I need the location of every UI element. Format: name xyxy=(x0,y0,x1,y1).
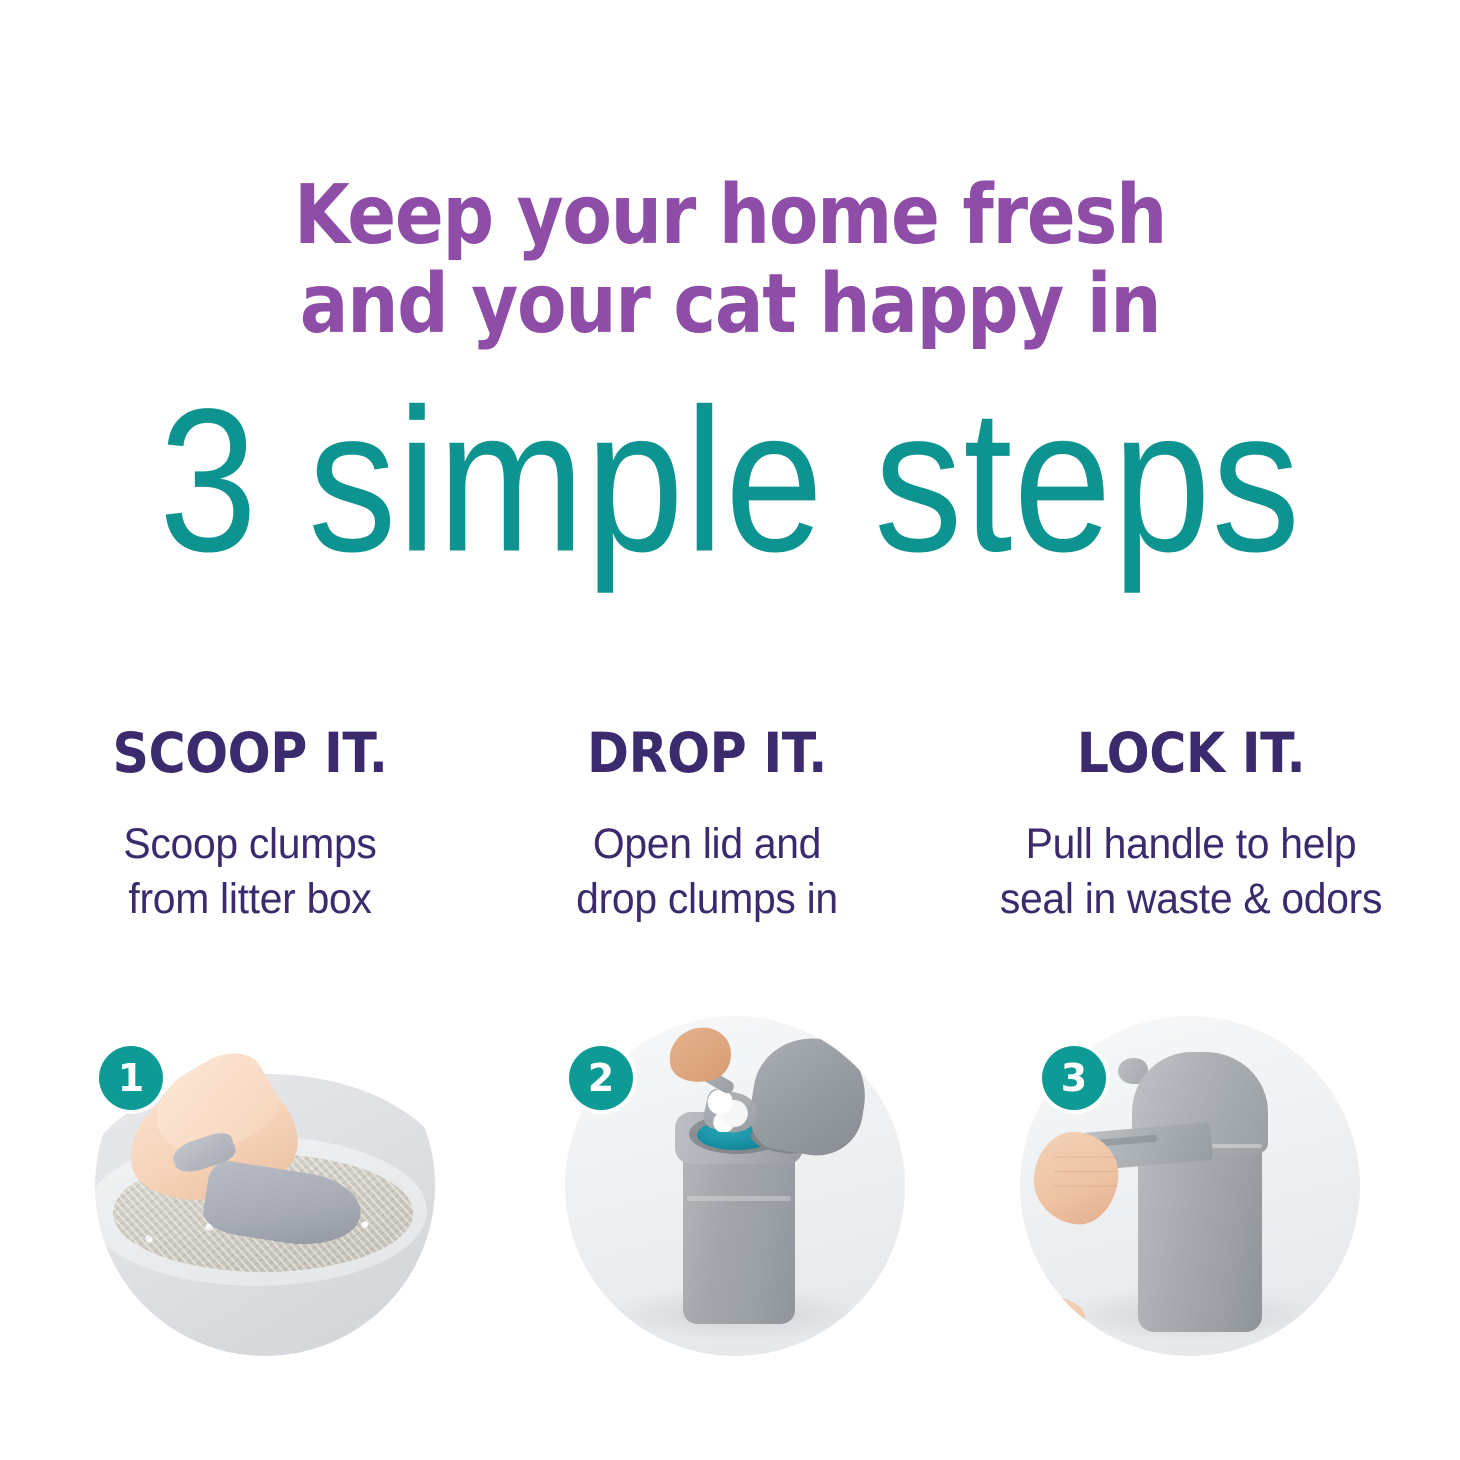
step-column-3: LOCK IT. Pull handle to help seal in was… xyxy=(922,726,1460,927)
step-2-photo-wrap: 2 xyxy=(565,1016,905,1356)
headline-line-2: and your cat happy in xyxy=(88,261,1373,350)
step-2-number-badge: 2 xyxy=(569,1046,633,1110)
step-2-title: DROP IT. xyxy=(509,726,905,781)
step-2-desc-line-1: Open lid and xyxy=(503,817,912,872)
headline-line-1: Keep your home fresh xyxy=(88,172,1373,261)
litter-clumps-shape xyxy=(707,1088,751,1132)
fingers-shape xyxy=(1054,1144,1118,1200)
step-3-title: LOCK IT. xyxy=(944,726,1439,781)
steps-photo-row: 1 2 xyxy=(0,1016,1460,1376)
page-headline: Keep your home fresh and your cat happy … xyxy=(88,172,1373,349)
step-3-photo-wrap: 3 xyxy=(1020,1016,1360,1356)
step-column-2: DROP IT. Open lid and drop clumps in xyxy=(492,726,922,927)
step-2-desc-line-2: drop clumps in xyxy=(503,872,912,927)
step-column-1: SCOOP IT. Scoop clumps from litter box xyxy=(0,726,492,927)
step-1-number-badge: 1 xyxy=(99,1046,163,1110)
litter-box-shape xyxy=(95,1074,435,1356)
step-1-title: SCOOP IT. xyxy=(27,726,472,781)
promo-infographic: Keep your home fresh and your cat happy … xyxy=(0,0,1460,1460)
step-1-desc-line-1: Scoop clumps xyxy=(20,817,480,872)
step-1-description: Scoop clumps from litter box xyxy=(20,817,480,927)
step-2-description: Open lid and drop clumps in xyxy=(503,817,912,927)
step-3-description: Pull handle to help seal in waste & odor… xyxy=(935,817,1446,927)
step-3-desc-line-2: seal in waste & odors xyxy=(935,872,1446,927)
step-3-number-badge: 3 xyxy=(1042,1046,1106,1110)
step-1-desc-line-2: from litter box xyxy=(20,872,480,927)
page-subtitle: 3 simple steps xyxy=(22,378,1438,582)
step-3-desc-line-1: Pull handle to help xyxy=(935,817,1446,872)
step-1-photo-wrap: 1 xyxy=(95,1016,435,1356)
steps-text-row: SCOOP IT. Scoop clumps from litter box D… xyxy=(0,726,1460,927)
